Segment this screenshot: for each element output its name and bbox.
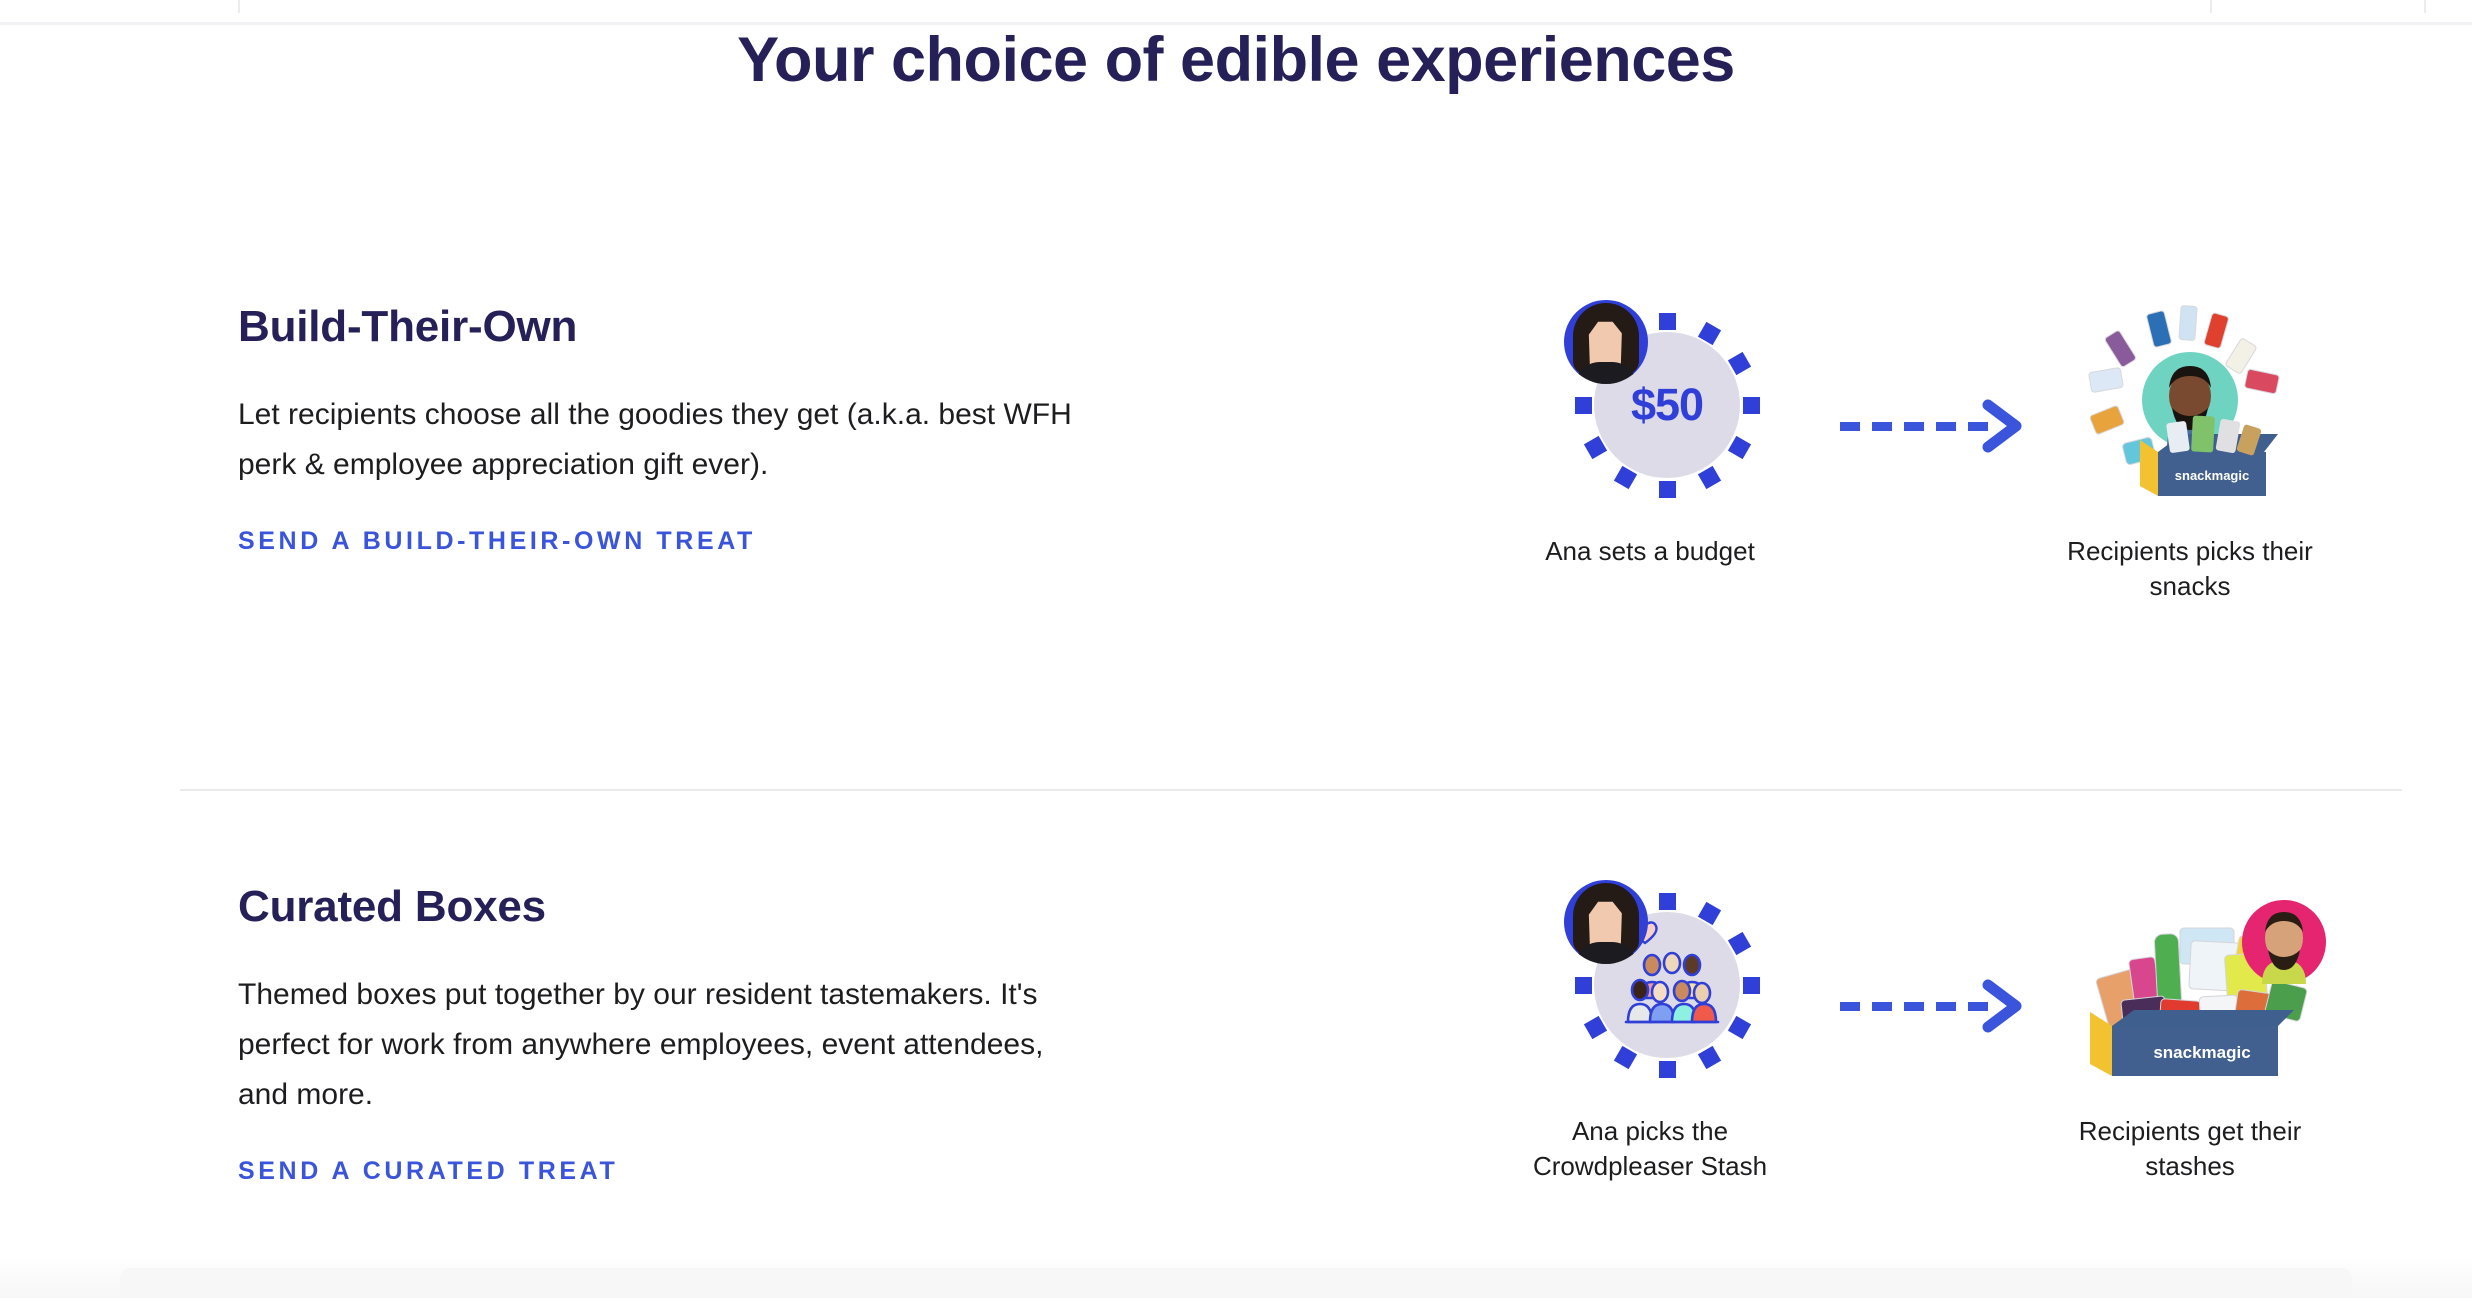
- step-caption: Recipients picks their snacks: [2040, 534, 2340, 604]
- flow-arrow-icon: [1840, 975, 2025, 1035]
- filled-box-svg: snackmagic: [2040, 880, 2340, 1100]
- nav-divider-far-right: [2424, 0, 2426, 13]
- budget-disc-illustration: $50: [1500, 300, 1800, 520]
- step-ana-picks-stash: Ana picks the Crowdpleaser Stash: [1500, 880, 1800, 1184]
- steps-illustration-group: $50 Ana sets a budget: [1500, 300, 2340, 760]
- disc-tick-icon: [1659, 1061, 1676, 1078]
- flow-arrow-icon: [1840, 395, 2025, 455]
- box-brand-label: snackmagic: [2175, 468, 2249, 483]
- step-recipients-pick-snacks: snackmagic Recipients picks their snacks: [2040, 300, 2340, 604]
- nav-divider-left: [238, 0, 240, 13]
- arrow-head-icon: [1981, 399, 2025, 453]
- disc-tick-icon: [1659, 313, 1676, 330]
- cta-link-curated[interactable]: SEND A CURATED TREAT: [238, 1157, 618, 1186]
- page-title: Your choice of edible experiences: [0, 22, 2472, 98]
- row-text-block: Curated Boxes Themed boxes put together …: [238, 880, 1138, 1186]
- snack-box: snackmagic: [2090, 1010, 2294, 1076]
- cta-link-build-their-own[interactable]: SEND A BUILD-THEIR-OWN TREAT: [238, 527, 756, 556]
- arrow-head-icon: [1981, 979, 2025, 1033]
- avatar-recipient-2: [2262, 912, 2306, 984]
- row-text-block: Build-Their-Own Let recipients choose al…: [238, 300, 1138, 556]
- page-root: Your choice of edible experiences Build-…: [0, 0, 2472, 1298]
- row-body: Themed boxes put together by our residen…: [238, 970, 1083, 1120]
- crowd-disc: [1572, 890, 1762, 1080]
- row-heading: Curated Boxes: [238, 880, 1138, 934]
- avatar-ana: [1564, 880, 1648, 964]
- step-recipients-get-stashes: snackmagic Recipients get their stashes: [2040, 880, 2340, 1184]
- filled-box-illustration: snackmagic: [2040, 880, 2340, 1100]
- budget-disc: $50: [1572, 310, 1762, 500]
- avatar-ana: [1564, 300, 1648, 384]
- people-group-icon: [1624, 950, 1720, 1026]
- step-ana-sets-budget: $50 Ana sets a budget: [1500, 300, 1800, 569]
- crowd-disc-illustration: [1500, 880, 1800, 1100]
- nav-divider-right: [2210, 0, 2212, 13]
- snack-burst-svg: snackmagic: [2040, 300, 2340, 520]
- disc-tick-icon: [1743, 397, 1760, 414]
- disc-tick-icon: [1743, 977, 1760, 994]
- next-section-band: [0, 1256, 2472, 1298]
- step-caption: Ana picks the Crowdpleaser Stash: [1500, 1114, 1800, 1184]
- steps-illustration-group: Ana picks the Crowdpleaser Stash: [1500, 880, 2340, 1298]
- snack-burst-illustration: snackmagic: [2040, 300, 2340, 520]
- box-brand-label: snackmagic: [2153, 1043, 2250, 1062]
- row-heading: Build-Their-Own: [238, 300, 1138, 354]
- step-caption: Ana sets a budget: [1500, 534, 1800, 569]
- experience-row-curated-boxes: Curated Boxes Themed boxes put together …: [0, 880, 2472, 1298]
- top-nav-remnant: [0, 0, 2472, 24]
- step-caption: Recipients get their stashes: [2040, 1114, 2340, 1184]
- disc-tick-icon: [1575, 397, 1592, 414]
- disc-tick-icon: [1659, 481, 1676, 498]
- disc-tick-icon: [1659, 893, 1676, 910]
- row-body: Let recipients choose all the goodies th…: [238, 390, 1083, 490]
- experience-row-build-their-own: Build-Their-Own Let recipients choose al…: [0, 300, 2472, 760]
- disc-tick-icon: [1575, 977, 1592, 994]
- section-divider: [180, 789, 2402, 791]
